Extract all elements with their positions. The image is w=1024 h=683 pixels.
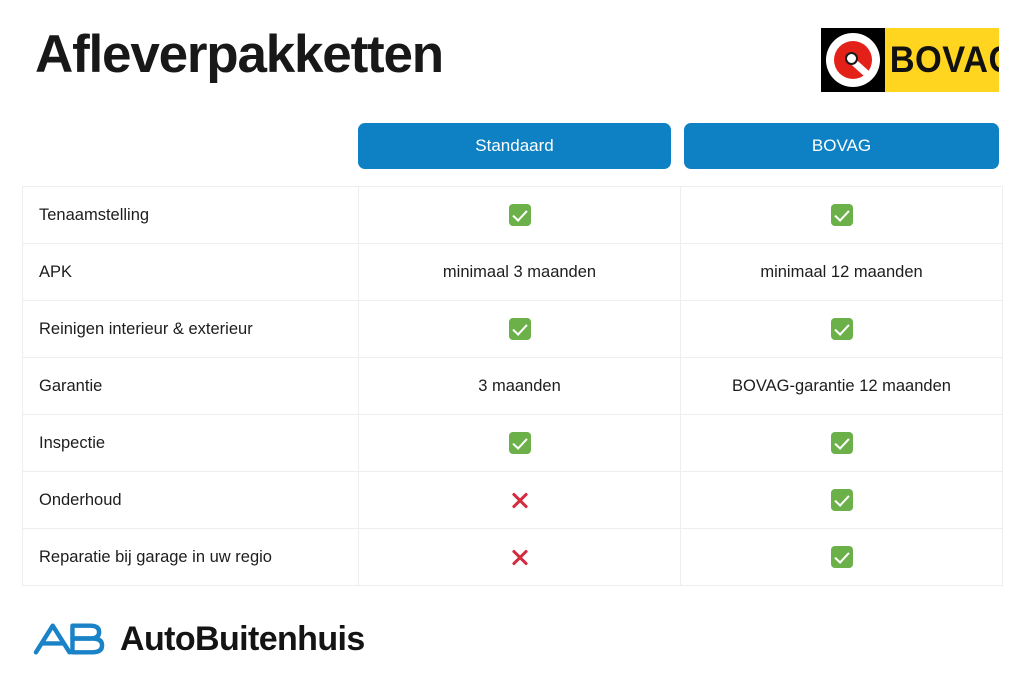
bovag-wordmark: BOVAG — [890, 39, 999, 81]
feature-label-cell: Inspectie — [23, 415, 359, 472]
table-row: Inspectie — [23, 415, 1003, 472]
column-header-row: Standaard BOVAG — [0, 123, 1024, 169]
comparison-table-body: TenaamstellingAPKminimaal 3 maandenminim… — [23, 187, 1003, 586]
feature-label: Inspectie — [39, 434, 105, 452]
standaard-value-cell — [359, 415, 681, 472]
bovag-value-cell — [681, 187, 1003, 244]
check-icon — [831, 432, 853, 454]
cell-text: minimaal 3 maanden — [443, 263, 596, 281]
table-row: Onderhoud — [23, 472, 1003, 529]
cross-icon — [509, 489, 531, 511]
feature-label: Onderhoud — [39, 491, 122, 509]
check-icon — [509, 432, 531, 454]
ab-monogram-icon — [33, 619, 107, 659]
feature-label-cell: Garantie — [23, 358, 359, 415]
column-header-standaard[interactable]: Standaard — [358, 123, 671, 169]
check-icon — [831, 204, 853, 226]
bovag-value-cell: BOVAG-garantie 12 maanden — [681, 358, 1003, 415]
cell-text: BOVAG-garantie 12 maanden — [732, 377, 951, 395]
check-icon — [509, 318, 531, 340]
bovag-value-cell: minimaal 12 maanden — [681, 244, 1003, 301]
cross-icon — [509, 546, 531, 568]
afleverpakketten-comparison-page: Afleverpakketten BOVAG Standaard BOVAG T… — [0, 0, 1024, 683]
feature-label-cell: Tenaamstelling — [23, 187, 359, 244]
feature-label-cell: APK — [23, 244, 359, 301]
check-icon — [831, 546, 853, 568]
bovag-logo: BOVAG — [821, 28, 999, 92]
feature-label: APK — [39, 263, 72, 281]
cell-text: minimaal 12 maanden — [760, 263, 922, 281]
feature-label: Tenaamstelling — [39, 206, 149, 224]
check-icon — [831, 318, 853, 340]
bovag-wordmark-plate: BOVAG — [885, 28, 999, 92]
bovag-dial-icon — [821, 28, 885, 92]
page-title: Afleverpakketten — [35, 26, 443, 84]
bovag-value-cell — [681, 529, 1003, 586]
table-row: Garantie3 maandenBOVAG-garantie 12 maand… — [23, 358, 1003, 415]
feature-label-cell: Reparatie bij garage in uw regio — [23, 529, 359, 586]
cell-text: 3 maanden — [478, 377, 561, 395]
feature-label: Reparatie bij garage in uw regio — [39, 548, 272, 566]
bovag-value-cell — [681, 415, 1003, 472]
table-row: APKminimaal 3 maandenminimaal 12 maanden — [23, 244, 1003, 301]
feature-label: Reinigen interieur & exterieur — [39, 320, 253, 338]
standaard-value-cell: minimaal 3 maanden — [359, 244, 681, 301]
column-header-bovag[interactable]: BOVAG — [684, 123, 999, 169]
table-row: Reinigen interieur & exterieur — [23, 301, 1003, 358]
feature-label-cell: Onderhoud — [23, 472, 359, 529]
standaard-value-cell — [359, 301, 681, 358]
table-row: Reparatie bij garage in uw regio — [23, 529, 1003, 586]
bovag-value-cell — [681, 301, 1003, 358]
check-icon — [509, 204, 531, 226]
bovag-value-cell — [681, 472, 1003, 529]
check-icon — [831, 489, 853, 511]
standaard-value-cell — [359, 187, 681, 244]
autobuitenhuis-wordmark: AutoBuitenhuis — [120, 622, 365, 656]
feature-label: Garantie — [39, 377, 102, 395]
standaard-value-cell — [359, 472, 681, 529]
autobuitenhuis-logo: AutoBuitenhuis — [33, 616, 365, 662]
standaard-value-cell: 3 maanden — [359, 358, 681, 415]
comparison-table: TenaamstellingAPKminimaal 3 maandenminim… — [22, 186, 1003, 586]
table-row: Tenaamstelling — [23, 187, 1003, 244]
feature-label-cell: Reinigen interieur & exterieur — [23, 301, 359, 358]
standaard-value-cell — [359, 529, 681, 586]
